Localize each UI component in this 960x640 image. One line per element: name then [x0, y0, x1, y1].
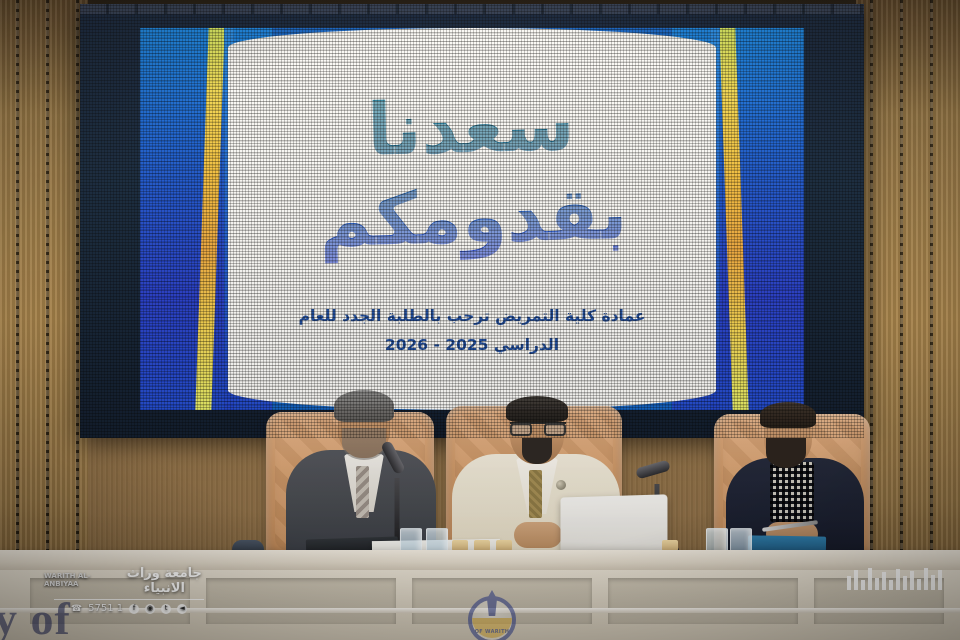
- watermark-left: جامعة وراث الانبياء WARITH AL-ANBIYAA ☎ …: [44, 566, 214, 614]
- person-center-hands: [514, 522, 562, 548]
- phone-icon: ☎: [71, 604, 82, 614]
- wall-panel-right: [856, 0, 960, 640]
- led-video-wall: سعدنا بقدومكم عمادة كلية التمريض ترحب با…: [80, 4, 864, 438]
- wall-panel-left: [0, 0, 88, 640]
- watermark-divider: [54, 599, 204, 600]
- wall-groove: [870, 0, 873, 640]
- microphone-stem: [395, 478, 400, 544]
- wall-groove: [46, 0, 49, 640]
- presentation-slide: سعدنا بقدومكم عمادة كلية التمريض ترحب با…: [140, 28, 804, 410]
- watermark-phone: 5751 1: [88, 603, 123, 614]
- slide-subtitle-line2: الدراسي 2025 - 2026: [299, 331, 646, 360]
- watermark-university-name: جامعة وراث الانبياء WARITH AL-ANBIYAA: [44, 566, 214, 596]
- table-front-panel: [206, 578, 396, 624]
- telegram-icon[interactable]: ◄: [177, 604, 187, 614]
- seal-label: OF WARITH: [468, 629, 516, 635]
- slide-headline: سعدنا بقدومكم: [234, 75, 711, 267]
- watermark-university-sub: WARITH AL-ANBIYAA: [44, 573, 111, 588]
- laptop: [560, 494, 667, 555]
- instagram-icon[interactable]: ◉: [145, 604, 155, 614]
- eyeglasses-icon: [510, 422, 566, 435]
- lapel-pin-icon: [556, 480, 566, 490]
- facebook-icon[interactable]: f: [129, 604, 139, 614]
- wall-groove: [16, 0, 19, 640]
- slide-subtitle: عمادة كلية التمريض ترحب بالطلبة الجدد لل…: [299, 302, 646, 361]
- wall-groove: [930, 0, 933, 640]
- microphone-capsule: [635, 460, 671, 480]
- watermark-contact-row: ☎ 5751 1 f ◉ t ◄: [44, 603, 214, 614]
- watermark-university-ar: جامعة وراث الانبياء: [115, 566, 214, 596]
- table-front-panel: [608, 578, 798, 624]
- person-right-hair: [760, 402, 816, 428]
- wall-groove: [76, 0, 79, 640]
- twitter-icon[interactable]: t: [161, 604, 171, 614]
- person-left-tie: [356, 466, 369, 518]
- slide-subtitle-line1: عمادة كلية التمريض ترحب بالطلبة الجدد لل…: [299, 302, 646, 331]
- person-center-beard: [522, 438, 552, 464]
- wall-groove: [900, 0, 903, 640]
- led-mount-bar: [80, 4, 864, 14]
- person-right-beard: [766, 438, 806, 468]
- screenshot-stage: سعدنا بقدومكم عمادة كلية التمريض ترحب با…: [0, 0, 960, 640]
- person-right-shirt: [770, 462, 814, 522]
- university-seal: OF WARITH: [468, 596, 516, 640]
- person-center-tie: [529, 470, 542, 518]
- slide-text-block: سعدنا بقدومكم عمادة كلية التمريض ترحب با…: [236, 28, 708, 410]
- kufic-logo-bars: [847, 566, 942, 590]
